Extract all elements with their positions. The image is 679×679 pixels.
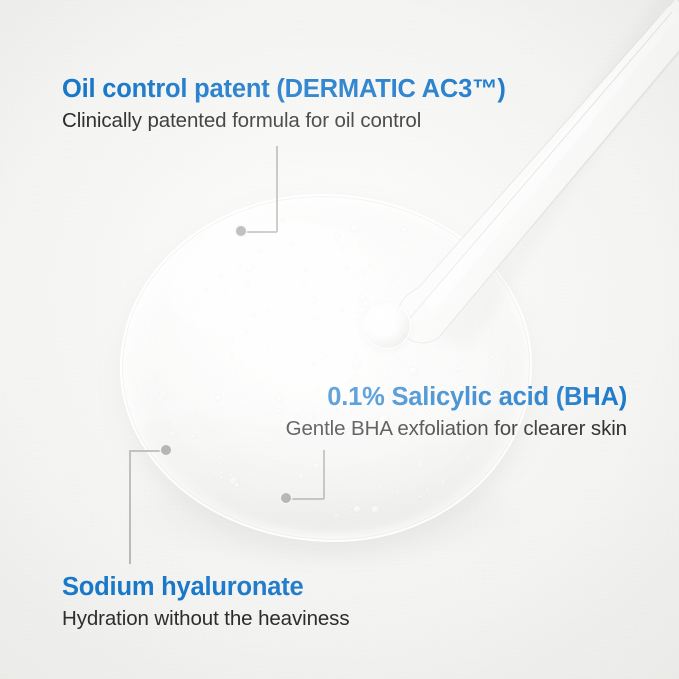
ingredient-infographic: Oil control patent (DERMATIC AC3™) Clini… <box>0 0 679 679</box>
background-vignette <box>0 0 679 679</box>
